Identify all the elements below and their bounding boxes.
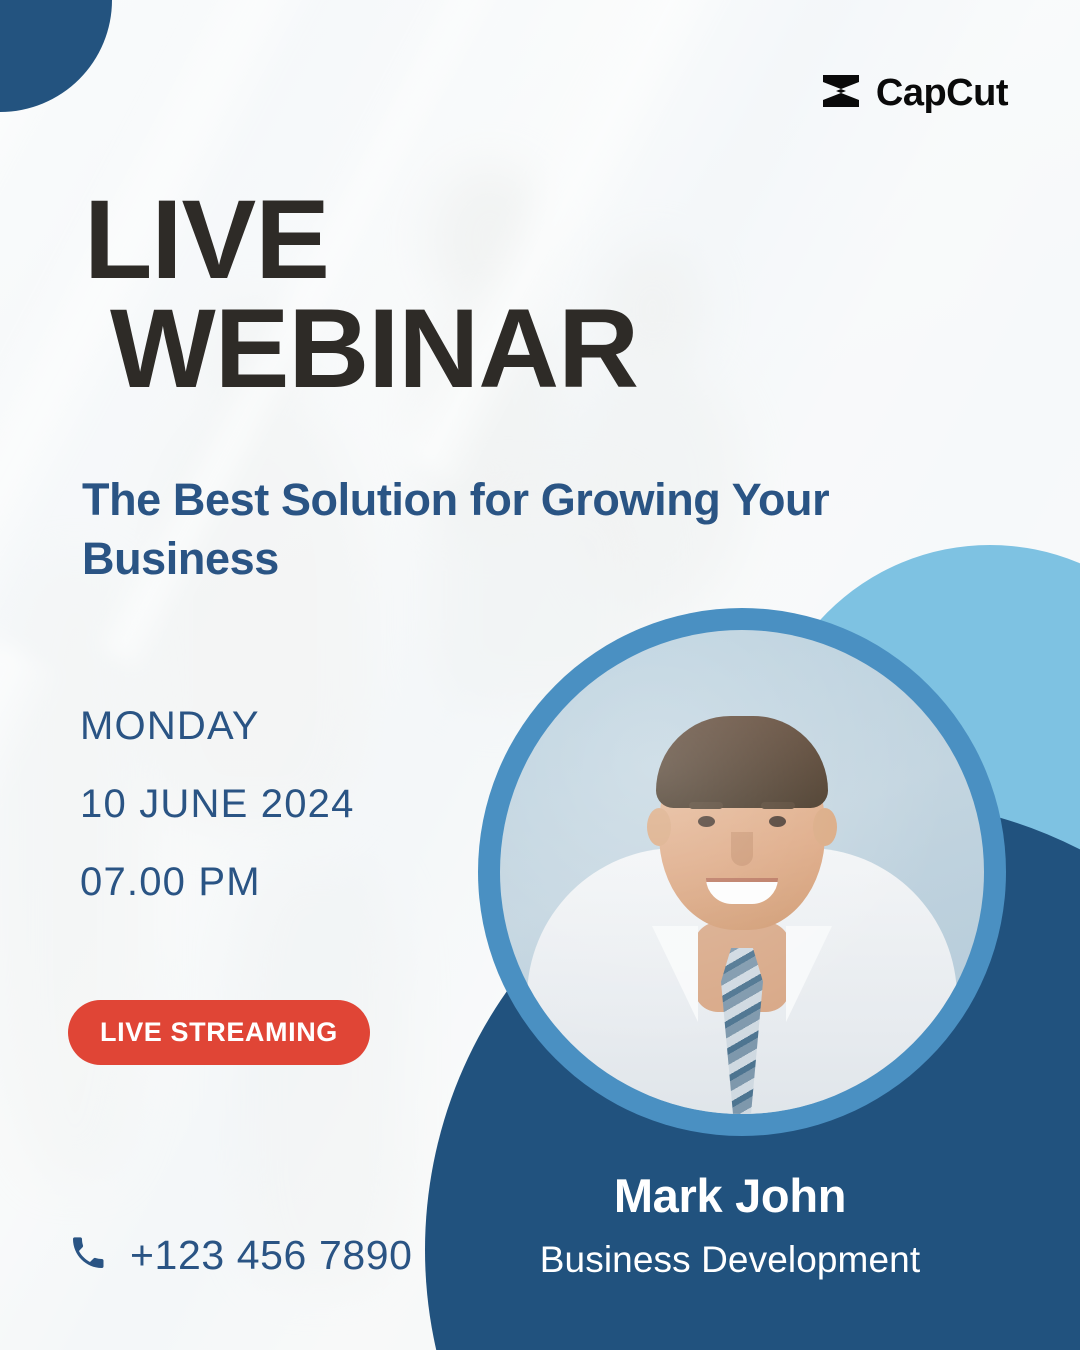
capcut-logo-text: CapCut [876, 72, 1008, 115]
portrait-nose [731, 832, 753, 866]
portrait-eyebrow-left [689, 802, 723, 809]
schedule-date: 10 JUNE 2024 [80, 784, 355, 824]
capcut-bowtie-icon [819, 72, 863, 115]
live-streaming-badge[interactable]: LIVE STREAMING [68, 1000, 370, 1065]
schedule-block: MONDAY 10 JUNE 2024 07.00 PM [80, 706, 355, 940]
portrait-ear-left [647, 808, 671, 846]
speaker-info: Mark John Business Development [440, 1168, 1020, 1281]
headline-line-1: LIVE [84, 177, 329, 302]
schedule-day: MONDAY [80, 706, 355, 746]
phone-number-text: +123 456 7890 [130, 1232, 413, 1279]
portrait-hair [656, 716, 828, 808]
speaker-portrait-photo [500, 630, 984, 1114]
phone-handset-icon [68, 1233, 108, 1278]
speaker-portrait-frame [478, 608, 1006, 1136]
speaker-name: Mark John [440, 1168, 1020, 1223]
portrait-eye-right [769, 816, 786, 827]
headline-line-2: WEBINAR [110, 295, 638, 404]
portrait-eye-left [698, 816, 715, 827]
portrait-collar-right [786, 926, 832, 1022]
speaker-role: Business Development [440, 1239, 1020, 1281]
webinar-poster: CapCut LIVE WEBINAR The Best Solution fo… [0, 0, 1080, 1350]
portrait-collar-left [652, 926, 698, 1022]
portrait-ear-right [813, 808, 837, 846]
capcut-logo[interactable]: CapCut [819, 72, 1008, 115]
subtitle: The Best Solution for Growing Your Busin… [82, 470, 852, 589]
contact-phone[interactable]: +123 456 7890 [68, 1232, 413, 1279]
page-title: LIVE WEBINAR [84, 186, 638, 403]
schedule-time: 07.00 PM [80, 862, 355, 902]
portrait-eyebrow-right [761, 802, 795, 809]
